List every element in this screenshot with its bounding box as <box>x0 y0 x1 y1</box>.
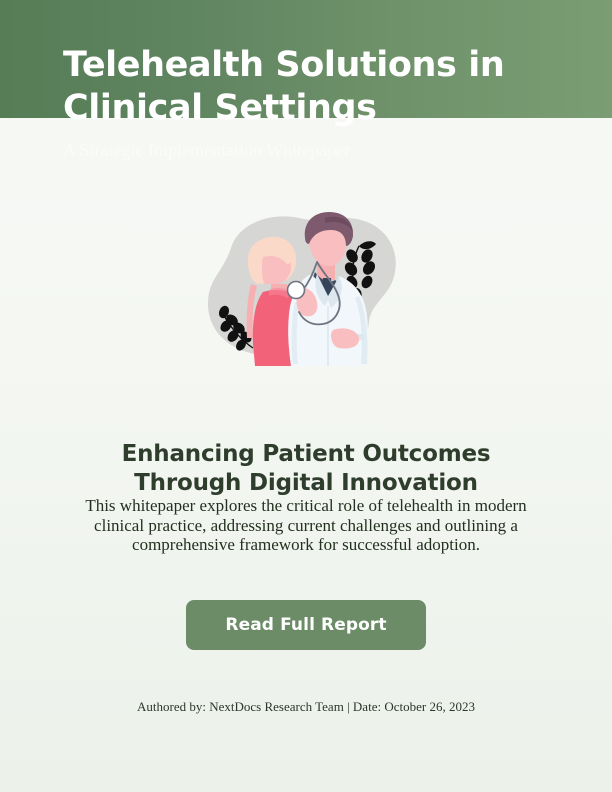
page-subtitle: A Strategic Implementation Whitepaper <box>63 138 350 162</box>
content-body-text: This whitepaper explores the critical ro… <box>0 496 612 555</box>
footer-attribution: Authored by: NextDocs Research Team | Da… <box>0 698 612 715</box>
content-heading: Enhancing Patient Outcomes Through Digit… <box>0 440 612 498</box>
read-full-report-button[interactable]: Read Full Report <box>186 600 426 650</box>
cta-container: Read Full Report <box>0 600 612 650</box>
main-content: Enhancing Patient Outcomes Through Digit… <box>0 440 612 555</box>
whitepaper-cover-page: Telehealth Solutions in Clinical Setting… <box>0 0 612 792</box>
doctor-patient-illustration <box>199 206 413 372</box>
page-title: Telehealth Solutions in Clinical Setting… <box>63 44 533 130</box>
